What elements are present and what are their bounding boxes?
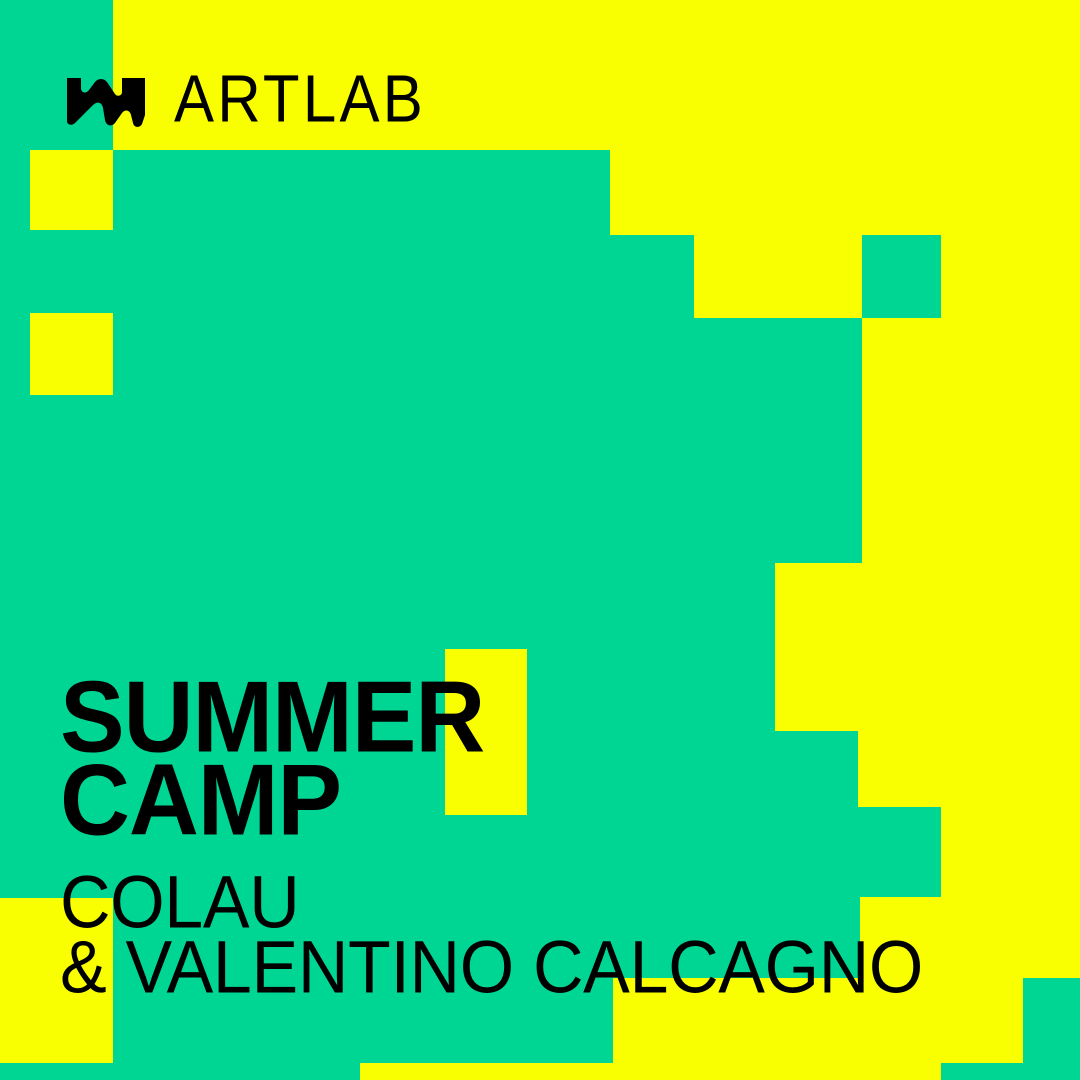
brand-lockup[interactable]: ARTLAB [60,68,426,130]
event-title: SUMMER CAMP [60,677,923,844]
headline-block: SUMMER CAMP COLAU & VALENTINO CALCAGNO [60,677,923,1002]
artlab-mark-icon [60,68,152,130]
yellow-right-lower-2 [941,807,1080,897]
yellow-right-upper [610,70,1080,235]
poster-canvas: ARTLAB 15.01.2026 — 19HS Roseti 93 - Bue… [0,0,1080,1080]
artist-line-2: & VALENTINO CALCAGNO [60,933,923,1002]
artist-lineup: COLAU & VALENTINO CALCAGNO [60,872,923,1002]
title-line-2: CAMP [60,757,923,844]
yellow-right-notch [694,235,862,318]
yellow-small-square-1 [30,150,113,230]
yellow-small-square-2 [30,313,113,395]
wordmark-text: ARTLAB [174,65,426,132]
yellow-top-strip [113,0,1080,70]
yellow-right-column [941,235,1080,318]
yellow-bottom-strip [360,1063,941,1080]
yellow-right-band [862,318,1080,563]
